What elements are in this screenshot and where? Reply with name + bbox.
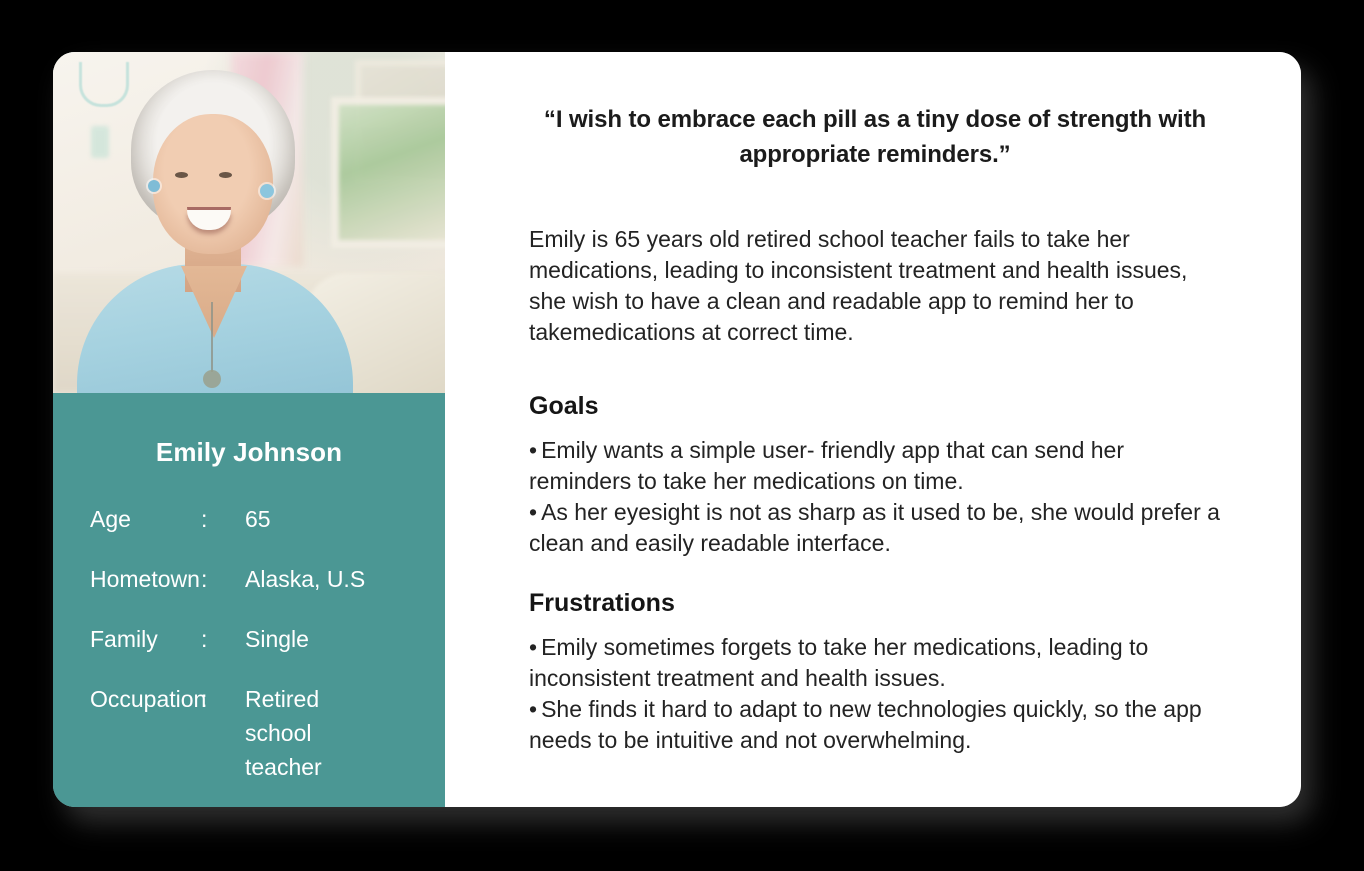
eye-right <box>219 172 232 178</box>
bullet-icon: • <box>529 634 537 660</box>
attribute-row-hometown: Hometown : Alaska, U.S <box>53 562 445 596</box>
identity-panel: Emily Johnson Age : 65 Hometown : Alaska… <box>53 393 445 807</box>
goals-list: •Emily wants a simple user- friendly app… <box>529 435 1221 559</box>
attribute-row-age: Age : 65 <box>53 502 445 536</box>
attribute-value: Retired school teacher <box>245 682 375 784</box>
attribute-row-occupation: Occupation : Retired school teacher <box>53 682 445 784</box>
attribute-value: 65 <box>245 502 445 536</box>
attribute-row-family: Family : Single <box>53 622 445 656</box>
list-item: •Emily wants a simple user- friendly app… <box>529 435 1221 497</box>
attribute-label: Hometown <box>53 562 201 596</box>
detail-column: “I wish to embrace each pill as a tiny d… <box>445 52 1301 807</box>
attribute-separator: : <box>201 502 245 536</box>
face <box>153 114 273 254</box>
earring-left-icon <box>148 180 160 192</box>
page-background: Emily Johnson Age : 65 Hometown : Alaska… <box>0 0 1364 871</box>
attribute-label: Age <box>53 502 201 536</box>
persona-name: Emily Johnson <box>53 437 445 468</box>
necklace-chain <box>211 302 213 372</box>
attribute-separator: : <box>201 622 245 656</box>
attribute-table: Age : 65 Hometown : Alaska, U.S Family :… <box>53 502 445 784</box>
list-item-text: She finds it hard to adapt to new techno… <box>529 696 1202 753</box>
persona-quote: “I wish to embrace each pill as a tiny d… <box>529 102 1221 172</box>
teacup-icon <box>79 62 129 107</box>
goals-heading: Goals <box>529 392 1221 421</box>
list-item-text: As her eyesight is not as sharp as it us… <box>529 499 1220 556</box>
list-item-text: Emily wants a simple user- friendly app … <box>529 437 1124 494</box>
profile-column: Emily Johnson Age : 65 Hometown : Alaska… <box>53 52 445 807</box>
bullet-icon: • <box>529 696 537 722</box>
persona-photo <box>53 52 445 393</box>
attribute-label: Family <box>53 622 201 656</box>
necklace-pendant <box>203 370 221 388</box>
frustrations-list: •Emily sometimes forgets to take her med… <box>529 632 1221 756</box>
attribute-value: Single <box>245 622 445 656</box>
persona-card: Emily Johnson Age : 65 Hometown : Alaska… <box>53 52 1301 807</box>
bullet-icon: • <box>529 437 537 463</box>
eye-left <box>175 172 188 178</box>
list-item: •She finds it hard to adapt to new techn… <box>529 694 1221 756</box>
wall-landscape-frame-icon <box>331 97 445 248</box>
bullet-icon: • <box>529 499 537 525</box>
frustrations-heading: Frustrations <box>529 589 1221 618</box>
attribute-separator: : <box>201 682 245 716</box>
list-item: •As her eyesight is not as sharp as it u… <box>529 497 1221 559</box>
persona-bio: Emily is 65 years old retired school tea… <box>529 224 1221 348</box>
earring-right-icon <box>260 184 274 198</box>
attribute-separator: : <box>201 562 245 596</box>
list-item: •Emily sometimes forgets to take her med… <box>529 632 1221 694</box>
attribute-label: Occupation <box>53 682 201 716</box>
list-item-text: Emily sometimes forgets to take her medi… <box>529 634 1148 691</box>
attribute-value: Alaska, U.S <box>245 562 445 596</box>
shelf-object-icon <box>91 126 109 158</box>
